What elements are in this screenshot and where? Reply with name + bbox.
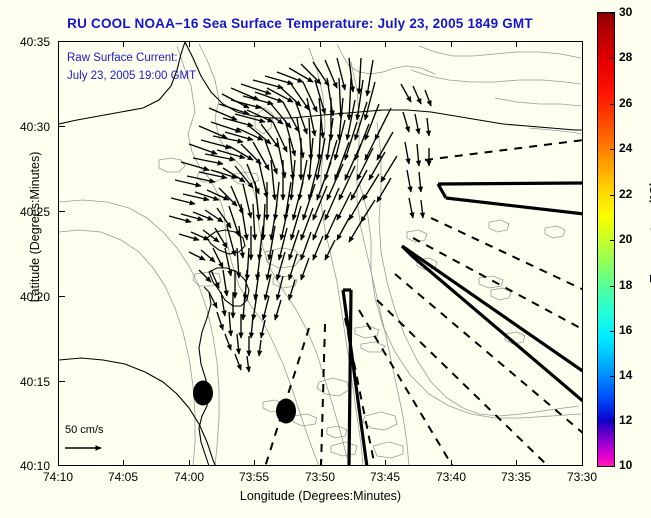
y-axis-title: Latitude (Degrees:Minutes) [28,117,42,337]
x-tick-mark [516,460,517,466]
map-plot-area[interactable]: Raw Surface Current: July 23, 2005 19:00… [58,41,583,466]
y-tick-label: 40:30 [0,120,50,134]
cbar-tick-mark [610,195,615,196]
cbar-tick-label: 14 [619,368,632,382]
sst-map-figure: RU COOL NOAA−16 Sea Surface Temperature:… [0,0,651,518]
cbar-tick-label: 12 [619,413,632,427]
cbar-tick-label: 30 [619,5,632,19]
cbar-tick-label: 16 [619,323,632,337]
x-tick-mark [254,460,255,466]
x-tick-mark [451,460,452,466]
cbar-tick-label: 28 [619,50,632,64]
radar-station-west [193,381,213,406]
x-tick-mark [582,460,583,466]
x-tick-mark-top [189,41,190,47]
map-graphics [59,42,583,466]
y-tick-mark [59,41,65,42]
cbar-tick-label: 10 [619,458,632,472]
cbar-tick-mark [610,466,615,467]
cbar-tick-label: 18 [619,278,632,292]
x-tick-label: 73:55 [224,470,284,484]
cbar-tick-mark [610,331,615,332]
y-tick-mark [59,465,65,466]
cbar-tick-mark [610,104,615,105]
x-tick-label: 74:05 [93,470,153,484]
x-tick-mark-top [58,41,59,47]
x-tick-mark [123,460,124,466]
x-tick-label: 74:00 [159,470,219,484]
x-tick-mark-top [385,41,386,47]
cbar-tick-mark [610,376,615,377]
y-tick-label: 40:15 [0,375,50,389]
x-tick-mark-top [320,41,321,47]
radar-station-east [276,399,296,424]
x-tick-mark-top [451,41,452,47]
y-tick-label: 40:35 [0,35,50,49]
cbar-tick-label: 24 [619,141,632,155]
figure-title: RU COOL NOAA−16 Sea Surface Temperature:… [0,16,600,31]
y-tick-mark [59,126,65,127]
x-tick-label: 73:50 [290,470,350,484]
x-tick-mark [189,460,190,466]
x-tick-label: 73:35 [486,470,546,484]
cbar-tick-mark [610,240,615,241]
x-tick-mark-top [516,41,517,47]
x-tick-mark-top [254,41,255,47]
y-tick-label: 40:25 [0,205,50,219]
x-tick-mark-top [123,41,124,47]
coastline [59,42,583,466]
radar-station-markers [193,381,296,424]
cbar-tick-mark [610,13,615,14]
cbar-tick-mark [610,421,615,422]
x-tick-label: 73:30 [552,470,612,484]
cbar-tick-label: 20 [619,232,632,246]
x-tick-label: 73:40 [421,470,481,484]
y-tick-mark [59,211,65,212]
y-tick-mark [59,296,65,297]
y-tick-label: 40:20 [0,290,50,304]
cbar-tick-mark [610,149,615,150]
x-tick-mark [385,460,386,466]
surface-current-vectors [169,58,431,372]
x-tick-label: 74:10 [28,470,88,484]
x-axis-title: Longitude (Degrees:Minutes) [58,489,583,503]
cbar-tick-label: 26 [619,96,632,110]
cbar-tick-label: 22 [619,187,632,201]
x-tick-label: 73:45 [355,470,415,484]
y-tick-mark [59,381,65,382]
x-tick-mark [320,460,321,466]
cbar-tick-mark [610,286,615,287]
cbar-tick-mark [610,58,615,59]
x-tick-mark [58,460,59,466]
